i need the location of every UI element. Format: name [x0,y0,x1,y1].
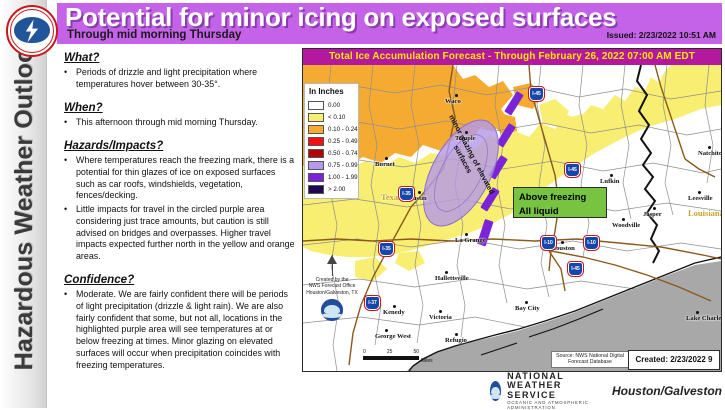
city-dot [525,301,528,304]
city-dot [653,207,656,210]
bullet-dot: • [64,67,67,79]
legend-title: In Inches [309,87,358,96]
legend-swatch [308,185,324,194]
section-confidence: Confidence? •Moderate. We are fairly con… [50,272,295,372]
legend-item: 0.00 [308,99,358,111]
city-dot [445,271,448,274]
city-dot [385,329,388,332]
highway-shield-icon: I-35 [399,187,414,201]
highway-shield-icon: I-45 [529,87,544,101]
city-dot [385,157,388,160]
highway-shield-icon: I-35 [379,242,394,256]
list-item: •Where temperatures reach the freezing m… [50,155,295,202]
legend-label: 0.10 - 0.24 [328,126,358,133]
map-canvas[interactable]: WacoTempleBurnetAustinLa GrangeHallettsv… [303,65,721,371]
legend-label: 0.25 - 0.49 [328,138,358,145]
callout-line-1: Above freezing [519,190,606,204]
bullet-list: •This afternoon through mid morning Thur… [50,117,295,129]
credit-line-3: Houston/Galveston, TX [305,290,359,296]
city-label: Woodville [612,222,640,229]
nws-roundel-logo [6,5,58,57]
bullet-list: •Moderate. We are fairly confident there… [50,289,295,371]
legend-item: < 0.10 [308,111,358,123]
city-dot [439,310,442,313]
city-label: Natchitoches [698,150,721,157]
section-heading: Hazards/Impacts? [64,138,295,153]
legend-label: > 2.00 [328,186,345,193]
header-bar: Potential for minor icing on exposed sur… [57,3,722,44]
section-when: When? •This afternoon through mid mornin… [50,100,295,129]
north-arrow-icon [305,255,359,277]
bullet-dot: • [64,204,67,216]
city-dot [610,174,613,177]
legend-rows: 0.00< 0.100.10 - 0.240.25 - 0.490.50 - 0… [308,99,358,195]
legend-swatch [308,101,324,110]
callout-line-2: All liquid [519,204,606,218]
graphic-root: Hazardous Weather Outlook Potential for … [0,0,725,408]
map-credit-block: Created by the NWS Forecast Office Houst… [305,255,359,355]
city-label: La Grange [455,237,486,244]
city-dot [698,191,701,194]
legend-swatch [308,137,324,146]
highway-shield-icon: I-45 [565,163,580,177]
legend-label: 0.75 - 0.99 [328,162,358,169]
city-label: Lake Charles [686,315,721,322]
city-dot [696,311,699,314]
footer-office-name: Houston/Galveston [612,384,722,398]
city-dot [622,218,625,221]
footer-agency-sub: OCEANIC AND ATMOSPHERIC ADMINISTRATION [507,400,601,410]
scale-tick-2: 50 [413,349,419,355]
noaa-footer-icon [490,381,501,401]
city-dot [418,191,421,194]
highway-shield-icon: I-10 [541,236,556,250]
legend-label: 1.00 - 1.99 [328,174,358,181]
sidebar-band: Hazardous Weather Outlook [0,0,47,408]
legend-label: 0.50 - 0.74 [328,150,358,157]
map-scale-bar: 0 25 50 Miles [363,349,433,367]
footer-agency-name: NATIONAL WEATHER SERVICE [507,372,601,400]
bullet-text: Periods of drizzle and light precipitati… [76,67,257,89]
legend-swatch [308,125,324,134]
map-svg [303,65,721,371]
legend-swatch [308,113,324,122]
credit-logos [305,299,359,321]
highway-shield-icon: I-45 [568,262,583,276]
city-label: Lufkin [600,178,619,185]
bullet-text: This afternoon through mid morning Thurs… [76,117,258,127]
above-freezing-callout: Above freezing All liquid [513,187,607,218]
legend-label: < 0.10 [328,114,345,121]
list-item: •Moderate. We are fairly confident there… [50,289,295,371]
legend-swatch [308,161,324,170]
credit-line-2: NWS Forecast Office [305,283,359,289]
list-item: •Periods of drizzle and light precipitat… [50,67,295,91]
city-dot [393,305,396,308]
footer-branding: NATIONAL WEATHER SERVICE OCEANIC AND ATM… [490,378,722,404]
map-title: Total Ice Accumulation Forecast - Throug… [303,49,721,65]
outlook-text-column: What? •Periods of drizzle and light prec… [50,50,295,406]
list-item: •This afternoon through mid morning Thur… [50,117,295,129]
bullet-text: Moderate. We are fairly confident there … [76,289,288,370]
city-label: Burnet [375,161,395,168]
city-dot [465,233,468,236]
issued-timestamp: Issued: 2/23/2022 10:51 AM [607,30,716,40]
legend-swatch [308,173,324,182]
city-label: Refugio [445,337,467,344]
city-dot [455,94,458,97]
scale-unit: Miles [421,358,433,364]
bullet-list: •Where temperatures reach the freezing m… [50,155,295,263]
scale-bar-graphic [363,356,419,360]
city-dot [455,333,458,336]
city-label: Victoria [429,314,452,321]
city-label: Bay City [515,305,540,312]
section-hazards-impacts: Hazards/Impacts? •Where temperatures rea… [50,138,295,263]
scale-tick-0: 0 [363,349,366,355]
city-label: Hallettsville [435,275,469,282]
section-heading: When? [64,100,295,115]
highway-shield-icon: I-37 [365,296,380,310]
section-what: What? •Periods of drizzle and light prec… [50,50,295,91]
legend-item: > 2.00 [308,183,358,195]
legend-item: 0.50 - 0.74 [308,147,358,159]
highway-shield-icon: I-10 [584,236,599,250]
legend-swatch [308,149,324,158]
city-dot [561,241,564,244]
section-heading: What? [64,50,295,65]
sidebar-vertical-title: Hazardous Weather Outlook [2,7,46,397]
noaa-logo-icon [321,299,343,321]
map-legend: In Inches 0.00< 0.100.10 - 0.240.25 - 0.… [304,83,359,199]
scale-tick-1: 25 [387,349,393,355]
bullet-dot: • [64,117,67,129]
page-subtitle: Through mid morning Thursday [67,29,241,41]
legend-item: 0.10 - 0.24 [308,123,358,135]
list-item: •Little impacts for travel in the circle… [50,204,295,263]
map-panel: Total Ice Accumulation Forecast - Throug… [302,48,722,372]
legend-item: 0.25 - 0.49 [308,135,358,147]
city-label: George West [375,333,411,340]
map-created-timestamp: Created: 2/23/2022 9 AM ET [628,350,720,370]
bullet-dot: • [64,289,67,301]
section-heading: Confidence? [64,272,295,287]
state-label: Louisiana [688,208,721,218]
bullet-text: Little impacts for travel in the circled… [76,204,295,261]
city-dot [708,146,711,149]
city-label: Leesville [688,195,713,202]
city-label: Kenedy [383,309,405,316]
legend-item: 1.00 - 1.99 [308,171,358,183]
legend-label: 0.00 [328,102,340,109]
bullet-dot: • [64,155,67,167]
bullet-text: Where temperatures reach the freezing ma… [76,155,294,200]
map-source-note: Source: NWS National Digital Forecast Da… [551,351,629,369]
bullet-list: •Periods of drizzle and light precipitat… [50,67,295,91]
legend-item: 0.75 - 0.99 [308,159,358,171]
city-label: Jasper [643,211,662,218]
city-label: Waco [445,98,461,105]
